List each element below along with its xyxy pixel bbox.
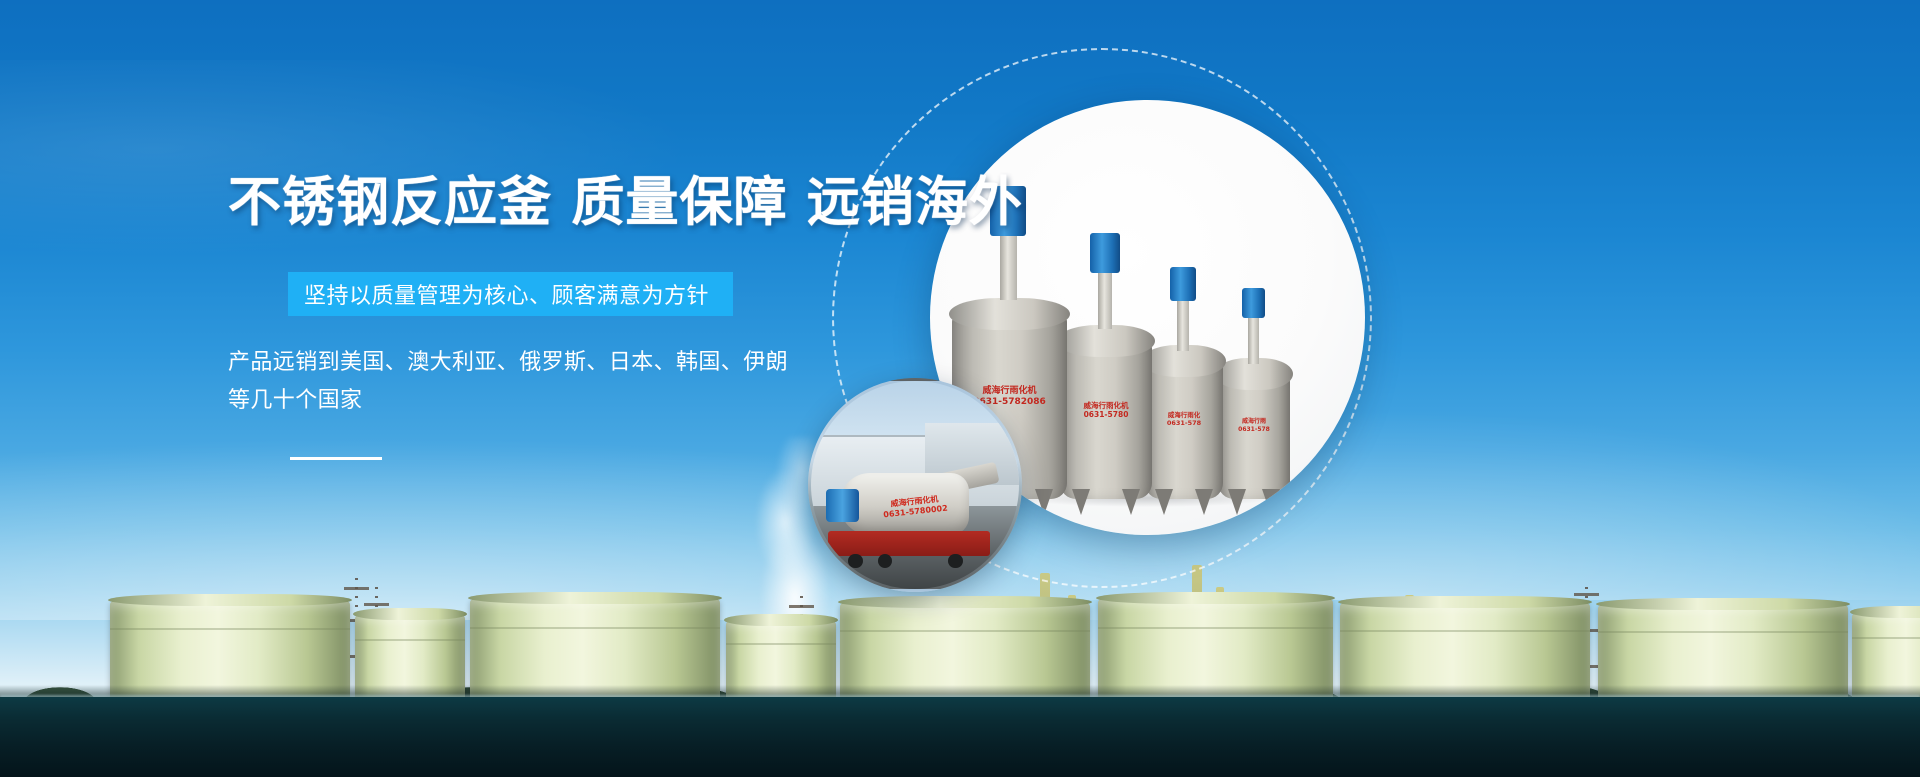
truck-photo-wheel-right — [948, 554, 963, 569]
reactor-vessel-3: 威海行雨化 0631-578 — [1145, 361, 1223, 499]
reactor-shaft-1 — [1000, 234, 1017, 300]
reactor-vessel-4: 威海行雨 0631-578 — [1218, 374, 1290, 499]
banner-description-line-1: 产品远销到美国、澳大利亚、俄罗斯、日本、韩国、伊朗 — [228, 344, 788, 382]
banner-subtitle-text: 坚持以质量管理为核心、顾客满意为方针 — [304, 278, 709, 310]
product-photo-truck: 威海行雨化机 0631-5780002 — [808, 378, 1022, 592]
truck-photo-motor — [826, 489, 859, 522]
reactor-label-3: 威海行雨化 0631-578 — [1167, 411, 1201, 427]
reactor-label-4: 威海行雨 0631-578 — [1238, 418, 1270, 433]
banner-description: 产品远销到美国、澳大利亚、俄罗斯、日本、韩国、伊朗 等几十个国家 — [228, 344, 788, 420]
reactor-motor-3 — [1170, 267, 1196, 301]
banner-description-line-2: 等几十个国家 — [228, 382, 788, 420]
reactor-label-2: 威海行雨化机 0631-5780 — [1084, 401, 1129, 420]
reactor-motor-2 — [1090, 233, 1120, 273]
reactor-head-1 — [949, 298, 1070, 330]
banner-headline: 不锈钢反应釜 质量保障 远销海外 — [228, 160, 1023, 236]
truck-photo-wheel-left — [848, 554, 863, 569]
reactor-shaft-3 — [1177, 299, 1189, 351]
truck-photo-trailer — [828, 531, 990, 556]
water-band — [0, 697, 1920, 777]
reactor-shaft-4 — [1248, 316, 1259, 364]
banner-stage: 威海行雨 0631-578 威海行雨化 0631-578 威海行雨化机 — [0, 0, 1920, 777]
reactor-shaft-2 — [1098, 271, 1112, 329]
reactor-vessel-2: 威海行雨化机 0631-5780 — [1060, 341, 1152, 499]
reactor-head-2 — [1057, 325, 1155, 357]
reactor-motor-4 — [1242, 288, 1265, 318]
banner-divider-rule — [290, 457, 382, 460]
banner-subtitle-bar: 坚持以质量管理为核心、顾客满意为方针 — [288, 272, 733, 316]
